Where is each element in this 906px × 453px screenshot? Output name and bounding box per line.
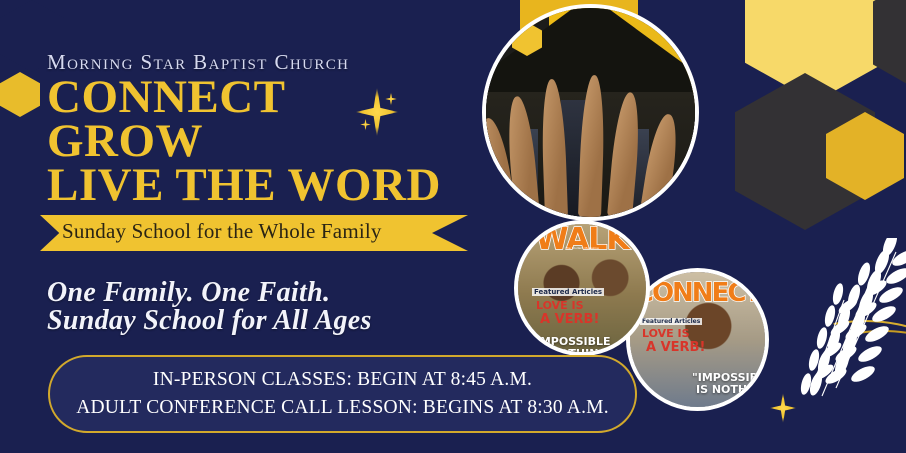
church-photo-circle xyxy=(482,4,699,221)
sparkle-icon xyxy=(356,86,398,138)
ribbon-banner-label: Sunday School for the Whole Family xyxy=(62,219,382,244)
featured-articles-label: Featured Articles xyxy=(532,288,604,296)
headline-line-2: GROW xyxy=(47,118,203,164)
leaf-branch-icon xyxy=(778,238,906,418)
schedule-line-in-person: IN-PERSON CLASSES: BEGIN AT 8:45 A.M. xyxy=(50,369,635,391)
magazine-kicker: The Student Magazine xyxy=(518,246,646,250)
hexagon-charcoal-right xyxy=(873,0,906,96)
magazine-headline-3: "IMPOSSIBLE xyxy=(530,336,611,348)
magazine-headline-3: "IMPOSSIBLE xyxy=(692,372,769,384)
headline-line-3: LIVE THE WORD xyxy=(47,162,441,208)
magazine-cover-connect: CONNECT Featured Articles LOVE IS A VERB… xyxy=(630,272,765,407)
schedule-line-conference-call: ADULT CONFERENCE CALL LESSON: BEGINS AT … xyxy=(50,397,635,419)
magazine-headline-2: A VERB! xyxy=(540,313,599,327)
hexagon-gold-ring-core xyxy=(0,72,40,117)
featured-articles-label: Featured Articles xyxy=(640,318,702,325)
magazine-walk-circle: WALK The Student Magazine Featured Artic… xyxy=(514,220,650,356)
magazine-headline-4: IS NOTHING" xyxy=(696,384,769,396)
tagline-line-2: Sunday School for All Ages xyxy=(47,305,372,337)
magazine-headline-1: LOVE IS xyxy=(536,300,584,312)
magazine-title: CONNECT xyxy=(630,278,765,308)
sparkle-small-icon xyxy=(385,92,397,106)
sparkle-small-icon xyxy=(360,118,371,131)
magazine-headline-1: LOVE IS xyxy=(642,328,690,340)
magazine-headline-2: A VERB! xyxy=(646,341,705,355)
sunday-school-flyer: WALK The Student Magazine Featured Artic… xyxy=(0,0,906,453)
magazine-cover-walk: WALK The Student Magazine Featured Artic… xyxy=(518,224,646,352)
magazine-title: WALK xyxy=(518,222,646,257)
headline-line-1: CONNECT xyxy=(47,74,286,120)
schedule-info-box: IN-PERSON CLASSES: BEGIN AT 8:45 A.M. AD… xyxy=(48,355,637,433)
